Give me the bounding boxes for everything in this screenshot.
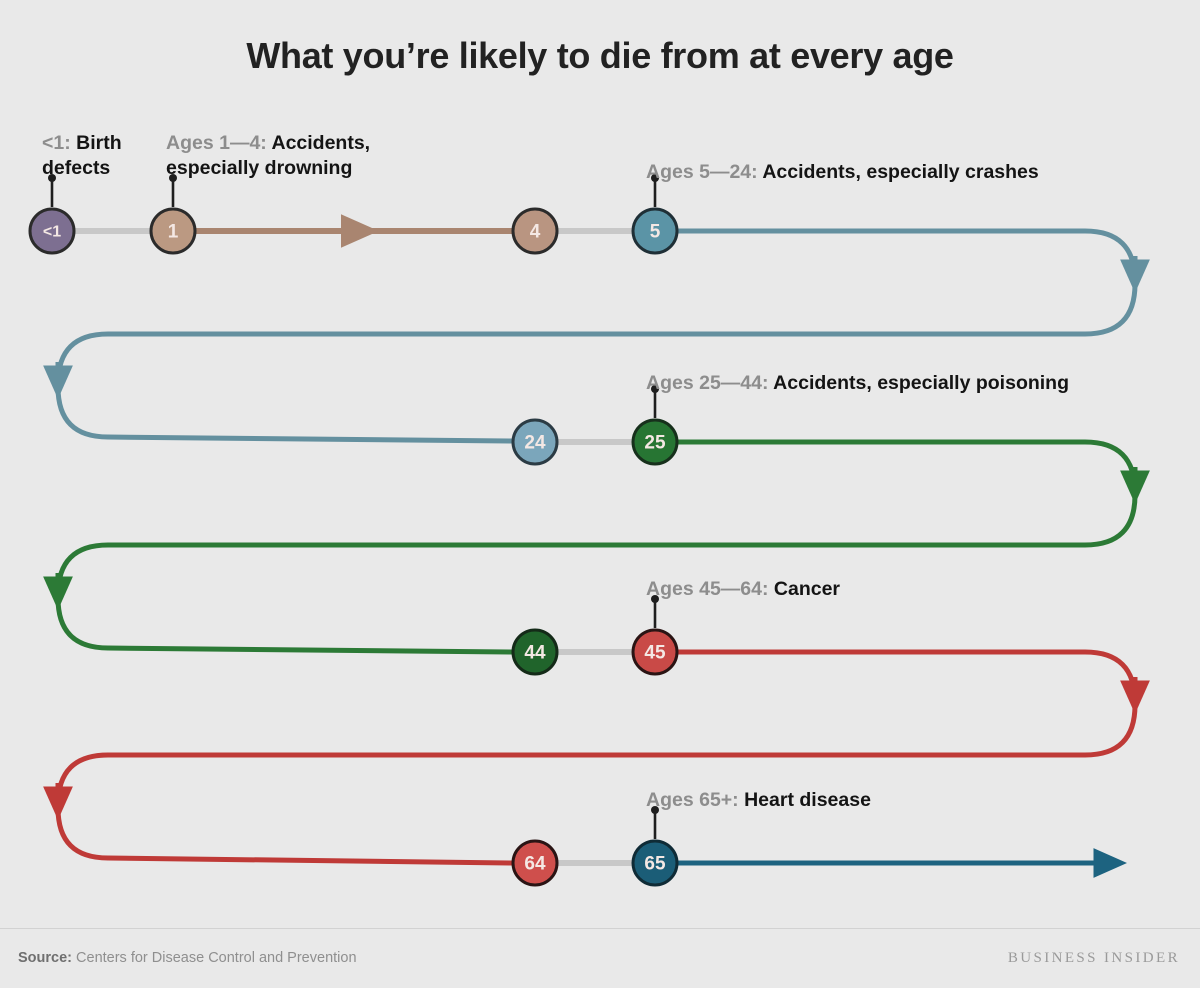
annotation-label-1: Ages 1—4: Accidents, especially drowning bbox=[166, 131, 370, 181]
age-node-1[interactable]: 1 bbox=[151, 174, 195, 253]
annotation-label-2: Ages 5—24: Accidents, especially crashes bbox=[646, 160, 1039, 185]
node-age-label: 45 bbox=[644, 643, 666, 664]
publisher-logo: BUSINESS INSIDER bbox=[1008, 950, 1180, 967]
annotation-label-4: Ages 45—64: Cancer bbox=[646, 577, 840, 602]
age-node-5[interactable]: 5 bbox=[633, 174, 677, 253]
age-node-45[interactable]: 45 bbox=[633, 595, 677, 674]
source-note: Source: Centers for Disease Control and … bbox=[18, 950, 357, 966]
source-label: Source: bbox=[18, 950, 72, 966]
age-node-24[interactable]: 24 bbox=[513, 420, 557, 464]
age-node-under1[interactable]: <1 bbox=[30, 174, 74, 253]
node-age-label: 44 bbox=[524, 643, 546, 664]
age-node-4[interactable]: 4 bbox=[513, 209, 557, 253]
source-text: Centers for Disease Control and Preventi… bbox=[72, 950, 357, 966]
age-node-65[interactable]: 65 bbox=[633, 806, 677, 885]
node-age-label: <1 bbox=[43, 224, 61, 241]
annotation-age-range: Ages 65+: bbox=[646, 789, 744, 811]
annotation-label-3: Ages 25—44: Accidents, especially poison… bbox=[646, 371, 1069, 396]
annotation-age-range: Ages 25—44: bbox=[646, 372, 773, 394]
footer-divider bbox=[0, 928, 1200, 929]
track-blue-ages-5-24 bbox=[58, 231, 1135, 441]
annotation-label-0: <1: Birth defects bbox=[42, 131, 122, 181]
annotation-cause: Accidents, especially poisoning bbox=[773, 372, 1069, 394]
infographic-root: What you’re likely to die from at every … bbox=[0, 0, 1200, 988]
node-layer: <1145242544456465 bbox=[30, 174, 677, 885]
node-age-label: 4 bbox=[530, 222, 541, 243]
annotation-age-range: Ages 5—24: bbox=[646, 161, 762, 183]
age-node-44[interactable]: 44 bbox=[513, 630, 557, 674]
annotation-age-range: Ages 1—4: bbox=[166, 132, 271, 154]
annotation-cause: Accidents, especially crashes bbox=[762, 161, 1038, 183]
annotation-label-5: Ages 65+: Heart disease bbox=[646, 788, 871, 813]
node-age-label: 24 bbox=[524, 433, 546, 454]
annotation-cause: Cancer bbox=[774, 578, 840, 600]
annotation-age-range: Ages 45—64: bbox=[646, 578, 774, 600]
annotation-cause: Heart disease bbox=[744, 789, 871, 811]
age-node-25[interactable]: 25 bbox=[633, 385, 677, 464]
node-age-label: 25 bbox=[644, 433, 666, 454]
node-age-label: 65 bbox=[644, 854, 666, 875]
annotation-age-range: <1: bbox=[42, 132, 76, 154]
node-age-label: 1 bbox=[168, 222, 179, 243]
node-age-label: 5 bbox=[650, 222, 661, 243]
track-green-ages-25-44 bbox=[58, 442, 1135, 652]
track-red-ages-45-64 bbox=[58, 652, 1135, 863]
node-age-label: 64 bbox=[524, 854, 546, 875]
age-node-64[interactable]: 64 bbox=[513, 841, 557, 885]
